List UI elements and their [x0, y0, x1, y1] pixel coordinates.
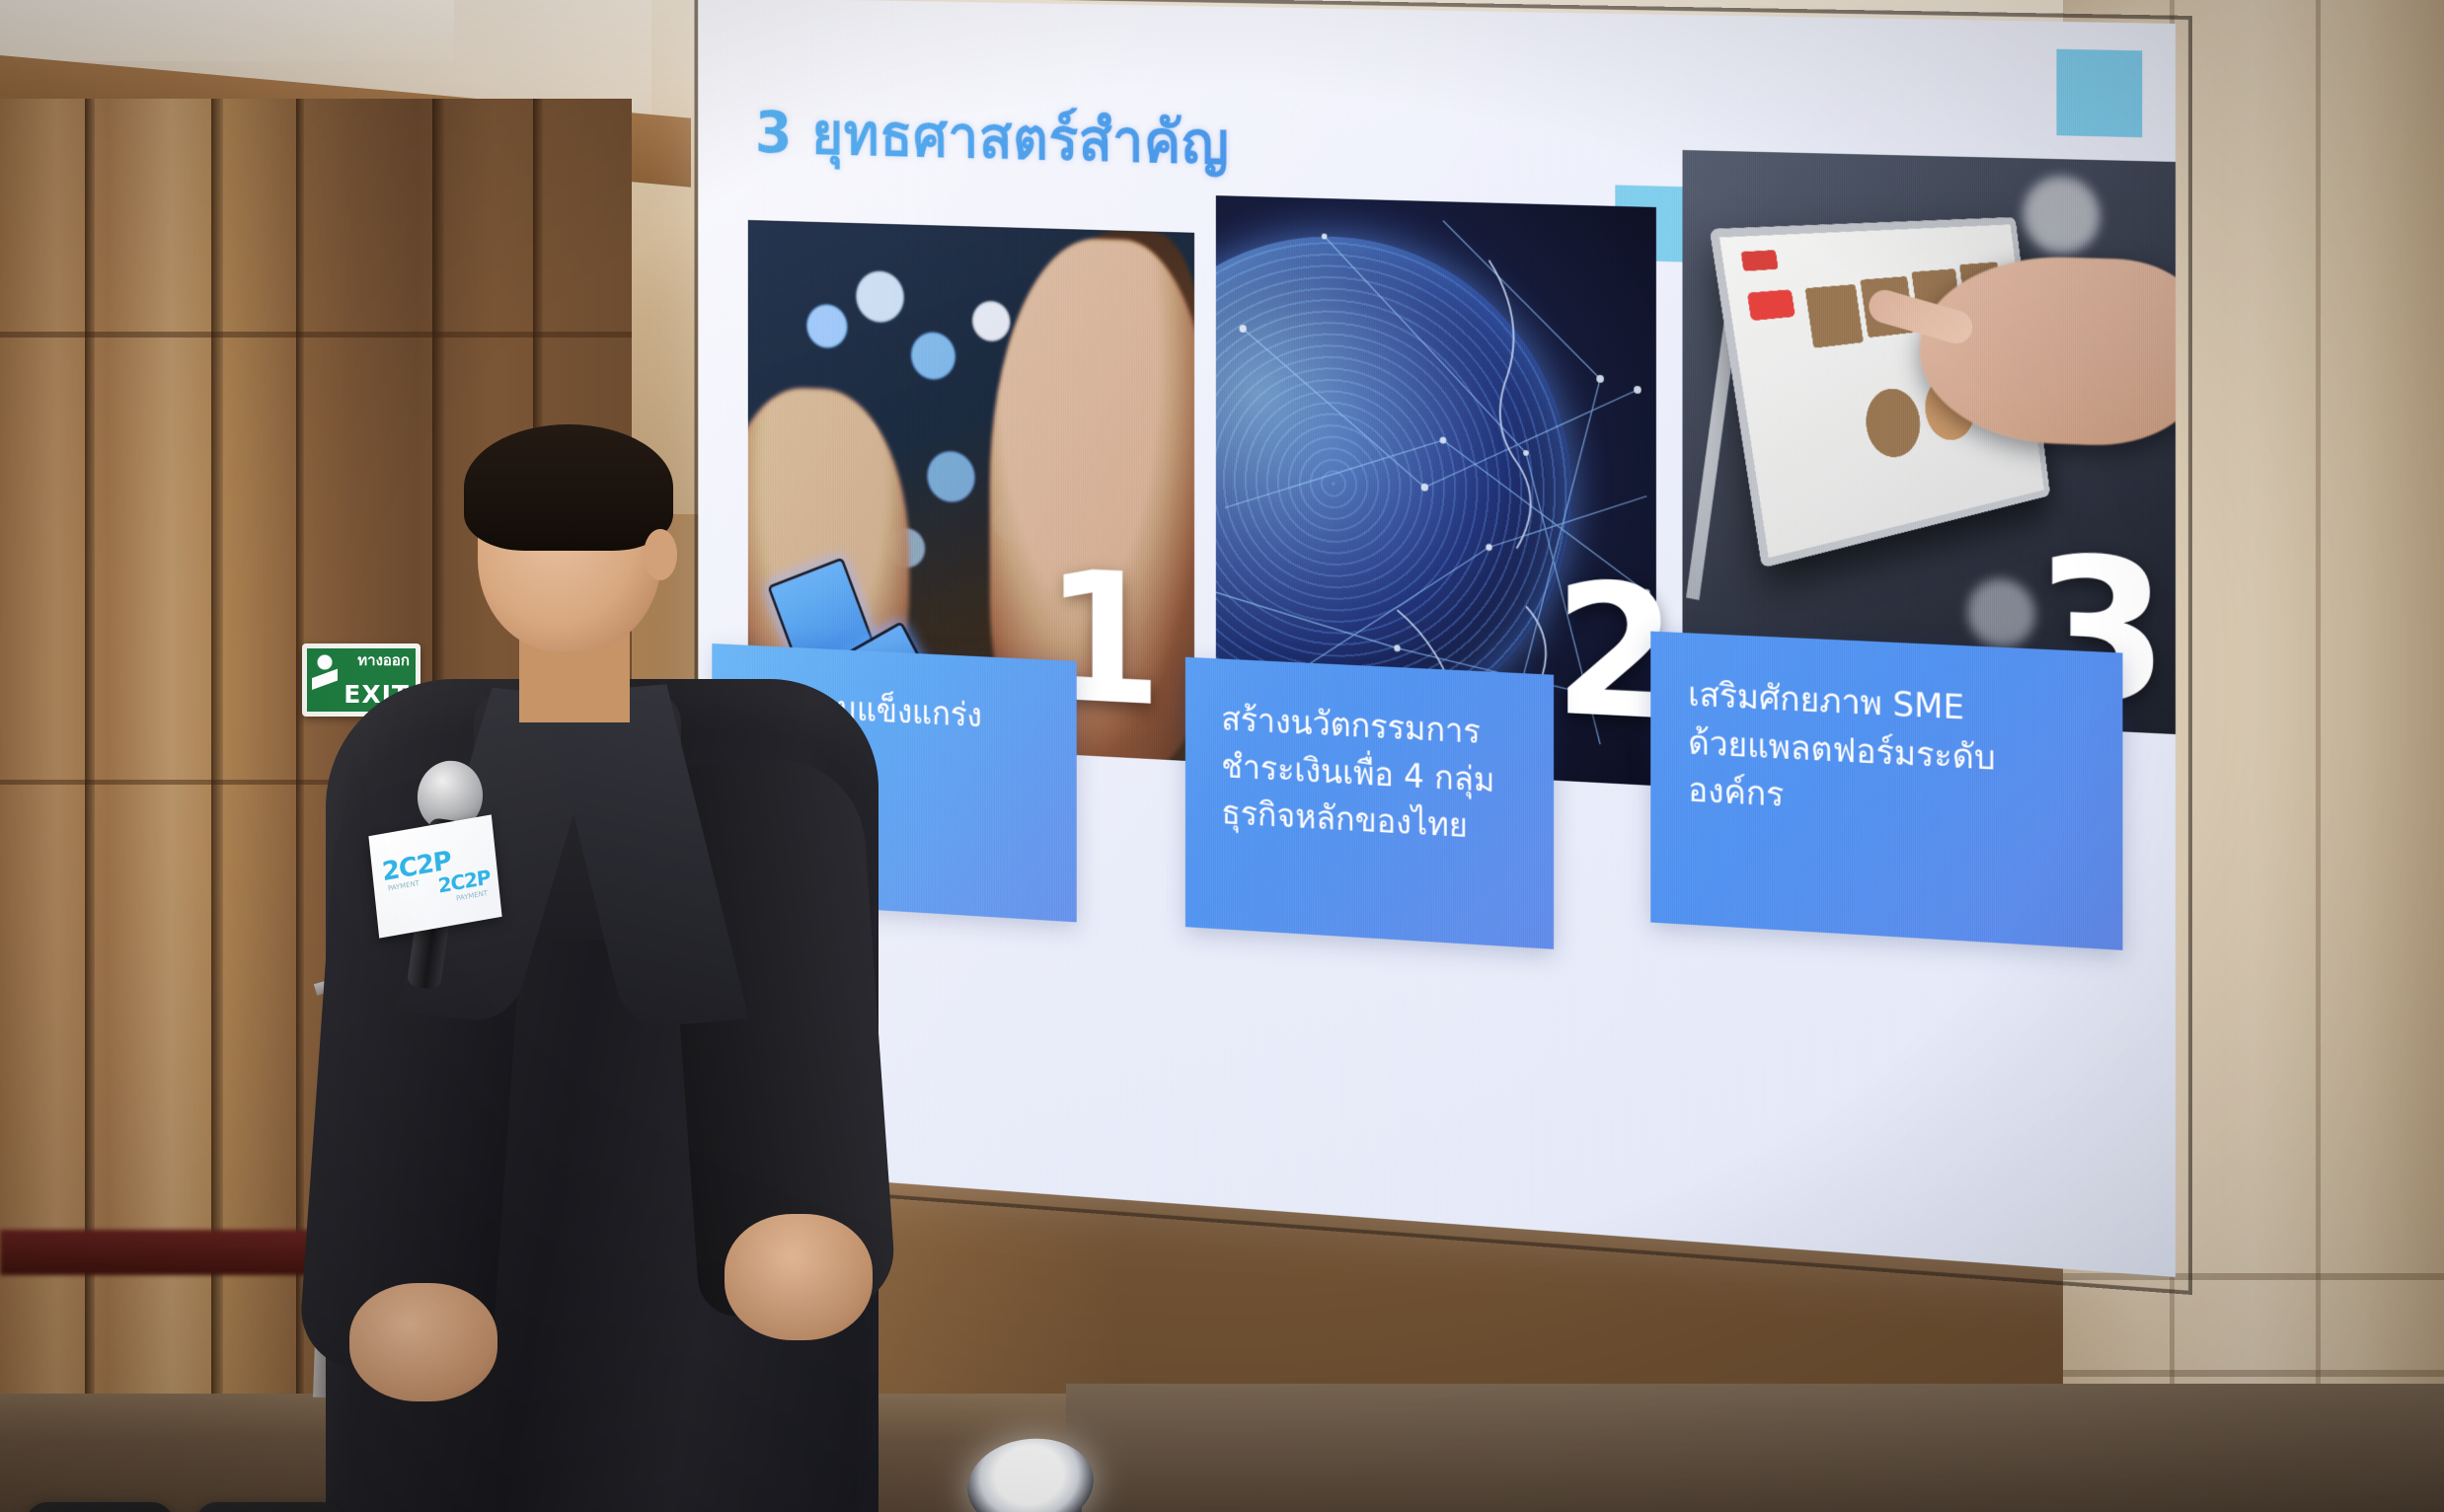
floor-carpet: [0, 1230, 326, 1275]
hair: [464, 424, 673, 551]
ceiling-inner: [0, 0, 454, 61]
stage-platform: [1066, 1384, 2444, 1512]
decorative-square-icon: [2056, 49, 2142, 138]
hand-right: [725, 1214, 873, 1340]
slide-caption-2: สร้างนวัตกรรมการ ชำระเงินเพื่อ 4 กลุ่ม ธ…: [1185, 657, 1554, 949]
projection-screen: 3 ยุทธศาสตร์สำคัญ: [698, 0, 2176, 1277]
slide-caption-3: เสริมศักยภาพ SME ด้วยแพลตฟอร์มระดับ องค์…: [1650, 632, 2122, 950]
hand-left: [349, 1283, 497, 1401]
ear: [644, 529, 677, 580]
photo-scene: ทางออก EXIT 3 ยุทธศาสตร์สำคัญ: [0, 0, 2444, 1512]
microphone-flag: 2C2P PAYMENT 2C2P PAYMENT: [368, 814, 501, 938]
slide-title: 3 ยุทธศาสตร์สำคัญ: [755, 87, 1230, 189]
